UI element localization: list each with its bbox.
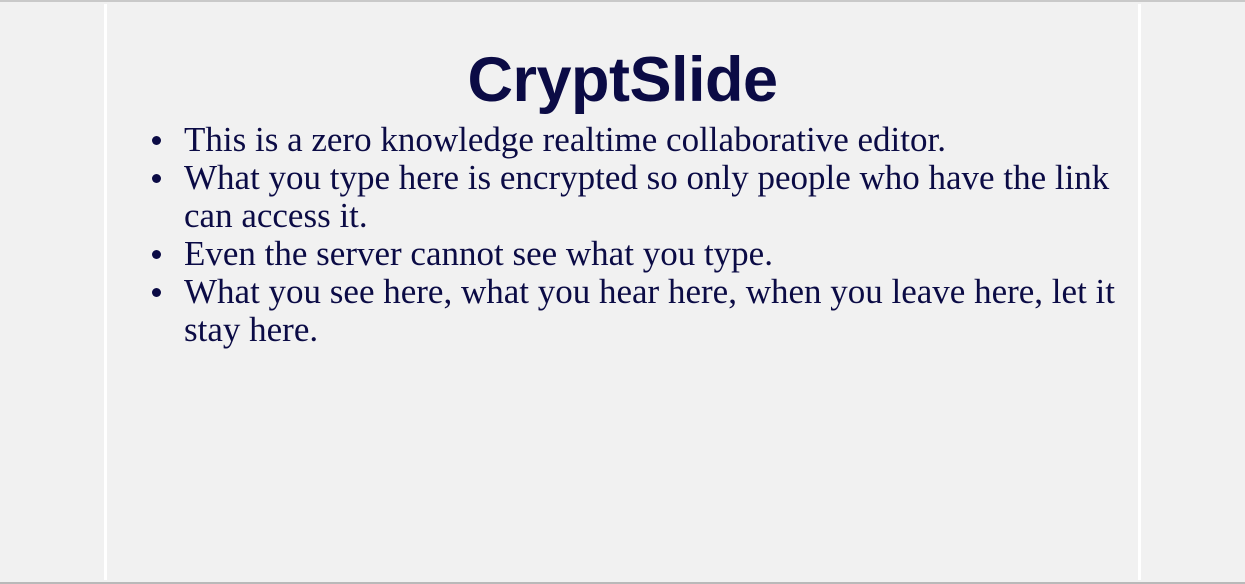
- slide-right-rule: [1138, 4, 1141, 580]
- bullet-dot-icon: [152, 136, 161, 145]
- bullet-dot-icon: [152, 174, 161, 183]
- slide-bullet-item: What you type here is encrypted so only …: [145, 159, 1120, 235]
- right-gutter: [1141, 4, 1245, 580]
- slide-bullet-text: Even the server cannot see what you type…: [184, 235, 1120, 273]
- slide-bullet-text: What you type here is encrypted so only …: [184, 159, 1120, 235]
- slide-presentation-frame: CryptSlide This is a zero knowledge real…: [0, 0, 1245, 584]
- slide-bullet-item: What you see here, what you hear here, w…: [145, 273, 1120, 349]
- slide-bullet-item: Even the server cannot see what you type…: [145, 235, 1120, 273]
- slide-bullet-list: This is a zero knowledge realtime collab…: [145, 121, 1120, 349]
- bullet-dot-icon: [152, 288, 161, 297]
- slide-bullet-text: What you see here, what you hear here, w…: [184, 273, 1120, 349]
- slide-bullet-text: This is a zero knowledge realtime collab…: [184, 121, 1120, 159]
- slide-title: CryptSlide: [107, 46, 1138, 114]
- bullet-dot-icon: [152, 250, 161, 259]
- slide-bullet-item: This is a zero knowledge realtime collab…: [145, 121, 1120, 159]
- left-gutter: [0, 4, 104, 580]
- slide-canvas[interactable]: CryptSlide This is a zero knowledge real…: [107, 4, 1138, 580]
